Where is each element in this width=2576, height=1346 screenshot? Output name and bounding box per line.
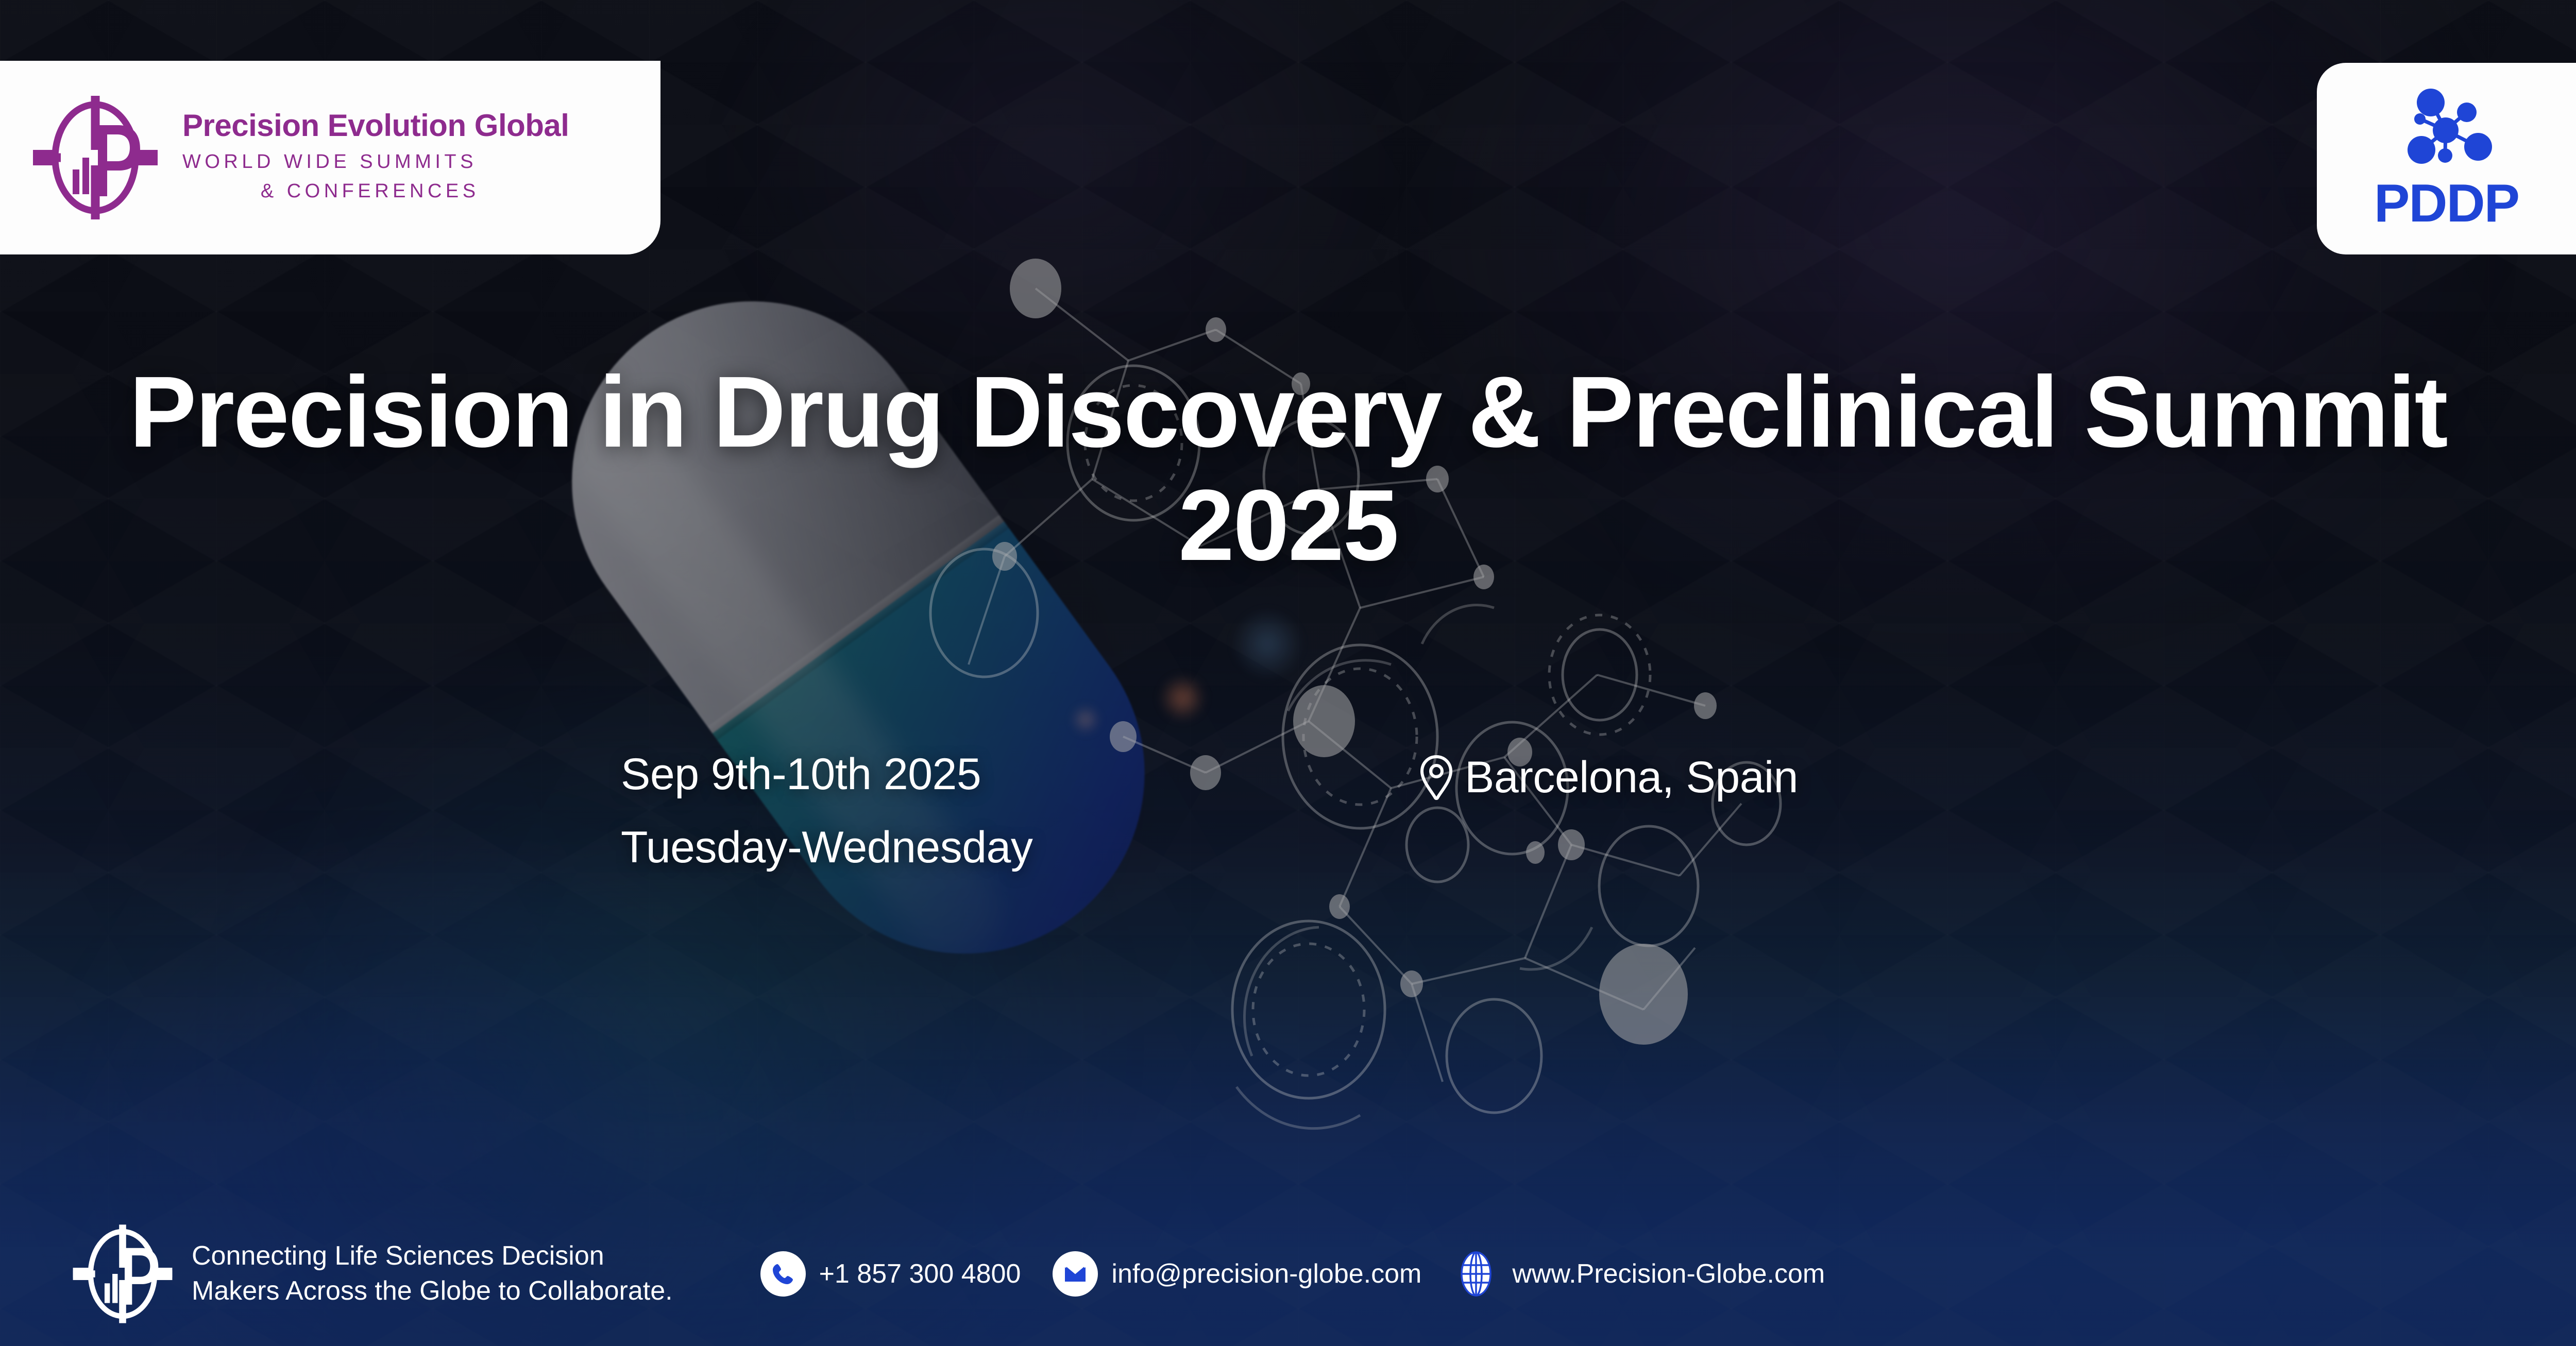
footer-tagline: Connecting Life Sciences Decision Makers… (192, 1239, 673, 1308)
brand-logo-card[interactable]: Precision Evolution Global WORLD WIDE SU… (0, 61, 660, 254)
molecule-icon (2387, 87, 2506, 176)
contact-phone-value: +1 857 300 4800 (819, 1260, 1021, 1287)
footer-tagline-line-2: Makers Across the Globe to Collaborate. (192, 1274, 673, 1309)
contact-email[interactable]: info@precision-globe.com (1053, 1251, 1421, 1297)
conference-banner: Precision Evolution Global WORLD WIDE SU… (0, 0, 2576, 1346)
event-meta: Sep 9th-10th 2025 Tuesday-Wednesday Barc… (621, 752, 1798, 870)
lens-flare-orange (1159, 675, 1206, 721)
email-icon (1053, 1251, 1098, 1297)
brand-subtitle-line-1: WORLD WIDE SUMMITS (182, 147, 569, 177)
footer-contacts: +1 857 300 4800 info@precision-globe.com (760, 1251, 1825, 1297)
event-location: Barcelona, Spain (1465, 755, 1798, 799)
globe-icon (1453, 1251, 1499, 1297)
crosshair-p-logo-icon (32, 93, 159, 222)
contact-website-value: www.Precision-Globe.com (1512, 1260, 1825, 1287)
event-days: Tuesday-Wednesday (621, 825, 1419, 870)
footer-bar: Connecting Life Sciences Decision Makers… (0, 1202, 2576, 1346)
event-location-block: Barcelona, Spain (1419, 754, 1798, 800)
footer-tagline-line-1: Connecting Life Sciences Decision (192, 1239, 673, 1274)
partner-logo-card[interactable]: PDDP (2317, 63, 2576, 254)
brand-text-block: Precision Evolution Global WORLD WIDE SU… (182, 109, 569, 206)
phone-icon (760, 1251, 806, 1297)
lens-flare-blue (1231, 608, 1303, 680)
crosshair-p-logo-icon (72, 1222, 173, 1325)
contact-website[interactable]: www.Precision-Globe.com (1453, 1251, 1825, 1297)
event-dates-block: Sep 9th-10th 2025 Tuesday-Wednesday (621, 752, 1419, 870)
map-pin-icon (1419, 754, 1453, 800)
lens-flare-orange-small (1072, 706, 1099, 734)
contact-email-value: info@precision-globe.com (1111, 1260, 1421, 1287)
contact-phone[interactable]: +1 857 300 4800 (760, 1251, 1021, 1297)
partner-acronym: PDDP (2374, 177, 2519, 230)
event-date: Sep 9th-10th 2025 (621, 752, 1419, 796)
page-title: Precision in Drug Discovery & Preclinica… (0, 355, 2576, 582)
brand-name: Precision Evolution Global (182, 109, 569, 142)
brand-subtitle-line-2: & CONFERENCES (182, 177, 569, 206)
